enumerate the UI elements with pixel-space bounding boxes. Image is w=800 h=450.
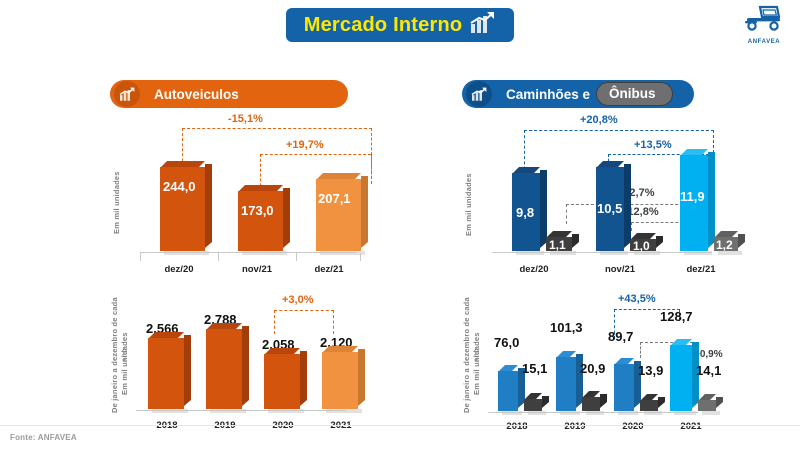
bar-value-caminhoes-dez20: 9,8	[516, 206, 534, 219]
bar-value-onibus-2018: 15,1	[522, 362, 547, 375]
anfavea-vehicle-logo-icon	[744, 5, 784, 38]
chart-caminhoes-onibus-anual: De janeiro a dezembro de cada ano Em mil…	[462, 288, 712, 433]
anfavea-logo-text: ANFAVEA	[748, 39, 780, 45]
y-axis-label-line2: Em mil unidades	[120, 322, 129, 406]
bar-onibus-2021	[698, 400, 716, 411]
section-label-autoveiculos: Autoveiculos	[154, 87, 239, 102]
chart-caminhoes-onibus-mensal: Em mil unidades +20,8% +13,5% +2,7% +12,…	[462, 110, 712, 275]
bar-value-caminhoes-nov21: 10,5	[597, 202, 622, 215]
bar-value-nov21: 173,0	[241, 204, 274, 217]
chart-autoveiculos-mensal: Em mil unidades -15,1% +19,7% 244,0	[110, 110, 360, 275]
x-axis-label-dez21: dez/21	[294, 265, 364, 275]
bar-onibus-2018	[524, 399, 542, 411]
bar-value-onibus-dez21: 1,2	[716, 239, 733, 251]
bar-value-caminhoes-2021: 128,7	[660, 310, 693, 323]
bar-nov21	[238, 191, 283, 251]
x-axis-label-2021: 2021	[662, 422, 720, 432]
bar-value-dez20: 244,0	[163, 180, 196, 193]
bar-value-caminhoes-2019: 101,3	[550, 321, 583, 334]
bar-chart-arrow-icon	[466, 81, 492, 107]
bar-chart-arrow-icon	[470, 11, 496, 40]
section-header-autoveiculos: Autoveiculos	[110, 80, 348, 108]
x-axis-label-nov21: nov/21	[578, 265, 662, 275]
bar-dez21	[316, 179, 361, 251]
bar-value-onibus-2019: 20,9	[580, 362, 605, 375]
page-title: Mercado Interno	[304, 15, 463, 35]
bar-value-dez21: 207,1	[318, 192, 351, 205]
x-axis-line	[136, 410, 346, 411]
x-axis-label-dez20: dez/20	[492, 265, 576, 275]
y-axis-label: Em mil unidades	[464, 160, 473, 250]
bar-2021	[322, 352, 358, 409]
annotation-label-1: +3,0%	[282, 295, 314, 306]
bar-onibus-2020	[640, 400, 658, 411]
y-axis-label-line2: Em mil unidades	[472, 322, 481, 406]
bar-value-onibus-dez20: 1,1	[549, 239, 566, 251]
bar-onibus-2019	[582, 397, 600, 411]
x-axis-tick	[360, 253, 361, 261]
bar-caminhoes-2021	[670, 345, 692, 411]
x-axis-label-2019: 2019	[546, 422, 604, 432]
bar-chart-arrow-icon	[114, 81, 140, 107]
page-title-banner: Mercado Interno	[286, 8, 514, 42]
x-axis-tick	[140, 253, 141, 261]
anfavea-logo: ANFAVEA	[736, 4, 792, 46]
bar-2019	[206, 329, 242, 409]
annotation-label-1: +20,8%	[580, 115, 618, 126]
bar-value-onibus-2020: 13,9	[638, 364, 663, 377]
bar-value-onibus-2021: 14,1	[696, 364, 721, 377]
x-axis-label-2020: 2020	[604, 422, 662, 432]
annotation-label-1: +43,5%	[618, 294, 656, 305]
bar-value-caminhoes-2018: 76,0	[494, 336, 519, 349]
section-pill-onibus: Ônibus	[596, 82, 673, 106]
bar-value-onibus-nov21: 1,0	[633, 240, 650, 252]
x-axis-tick	[218, 253, 219, 261]
bar-value-caminhoes-2020: 89,7	[608, 330, 633, 343]
bar-caminhoes-2018	[498, 371, 518, 411]
bar-value-caminhoes-dez21: 11,9	[680, 190, 705, 203]
x-axis-label-2018: 2018	[488, 422, 546, 432]
x-axis-line	[140, 252, 356, 253]
bar-2020	[264, 354, 300, 409]
bar-caminhoes-2019	[556, 357, 576, 411]
y-axis-label: Em mil unidades	[112, 158, 121, 248]
footer-divider	[0, 425, 800, 426]
x-axis-label-dez20: dez/20	[140, 265, 218, 275]
source-note: Fonte: ANFAVEA	[10, 433, 77, 442]
annotation-label-2: +13,5%	[634, 140, 672, 151]
bar-2018	[148, 338, 184, 409]
bar-caminhoes-2020	[614, 364, 634, 411]
chart-autoveiculos-anual: De janeiro a dezembro de cada ano Em mil…	[110, 288, 360, 433]
annotation-label-1: -15,1%	[228, 114, 263, 125]
annotation-label-2: +19,7%	[286, 140, 324, 151]
section-label-caminhoes: Caminhões e	[506, 87, 590, 102]
x-axis-line	[488, 412, 698, 413]
x-axis-tick	[296, 253, 297, 261]
x-axis-line	[492, 252, 712, 253]
x-axis-label-dez21: dez/21	[662, 265, 740, 275]
x-axis-label-nov21: nov/21	[218, 265, 296, 275]
section-header-caminhoes-onibus: Caminhões e Ônibus	[462, 80, 694, 108]
